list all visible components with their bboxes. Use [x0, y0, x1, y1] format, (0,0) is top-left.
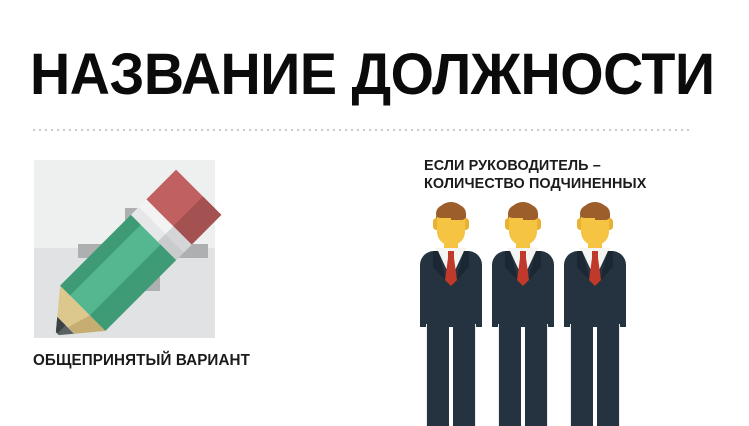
hair-fringe-side	[451, 212, 466, 220]
hair-fringe-side	[523, 212, 538, 220]
businessman-icon	[490, 196, 556, 426]
left-caption-label: ОБЩЕПРИНЯТЫЙ ВАРИАНТ	[33, 351, 250, 371]
slide-canvas: НАЗВАНИЕ ДОЛЖНОСТИ ОБЩЕПРИ	[0, 0, 749, 426]
people-group-icon	[410, 196, 749, 426]
trousers-outline	[426, 324, 476, 426]
right-caption-label: ЕСЛИ РУКОВОДИТЕЛЬ – КОЛИЧЕСТВО ПОДЧИНЕНН…	[424, 157, 646, 193]
hair-fringe-side	[595, 212, 610, 220]
right-caption-line-1: ЕСЛИ РУКОВОДИТЕЛЬ –	[424, 157, 646, 175]
right-illustration-block: ЕСЛИ РУКОВОДИТЕЛЬ – КОЛИЧЕСТВО ПОДЧИНЕНН…	[410, 0, 749, 426]
trousers-outline	[570, 324, 620, 426]
right-caption-line-2: КОЛИЧЕСТВО ПОДЧИНЕННЫХ	[424, 175, 646, 193]
trousers-outline	[498, 324, 548, 426]
businessman-icon	[562, 196, 628, 426]
tie-knot	[448, 251, 454, 259]
tie-knot	[520, 251, 526, 259]
left-illustration-block: ОБЩЕПРИНЯТЫЙ ВАРИАНТ	[0, 0, 360, 426]
businessman-icon	[418, 196, 484, 426]
tie-knot	[592, 251, 598, 259]
